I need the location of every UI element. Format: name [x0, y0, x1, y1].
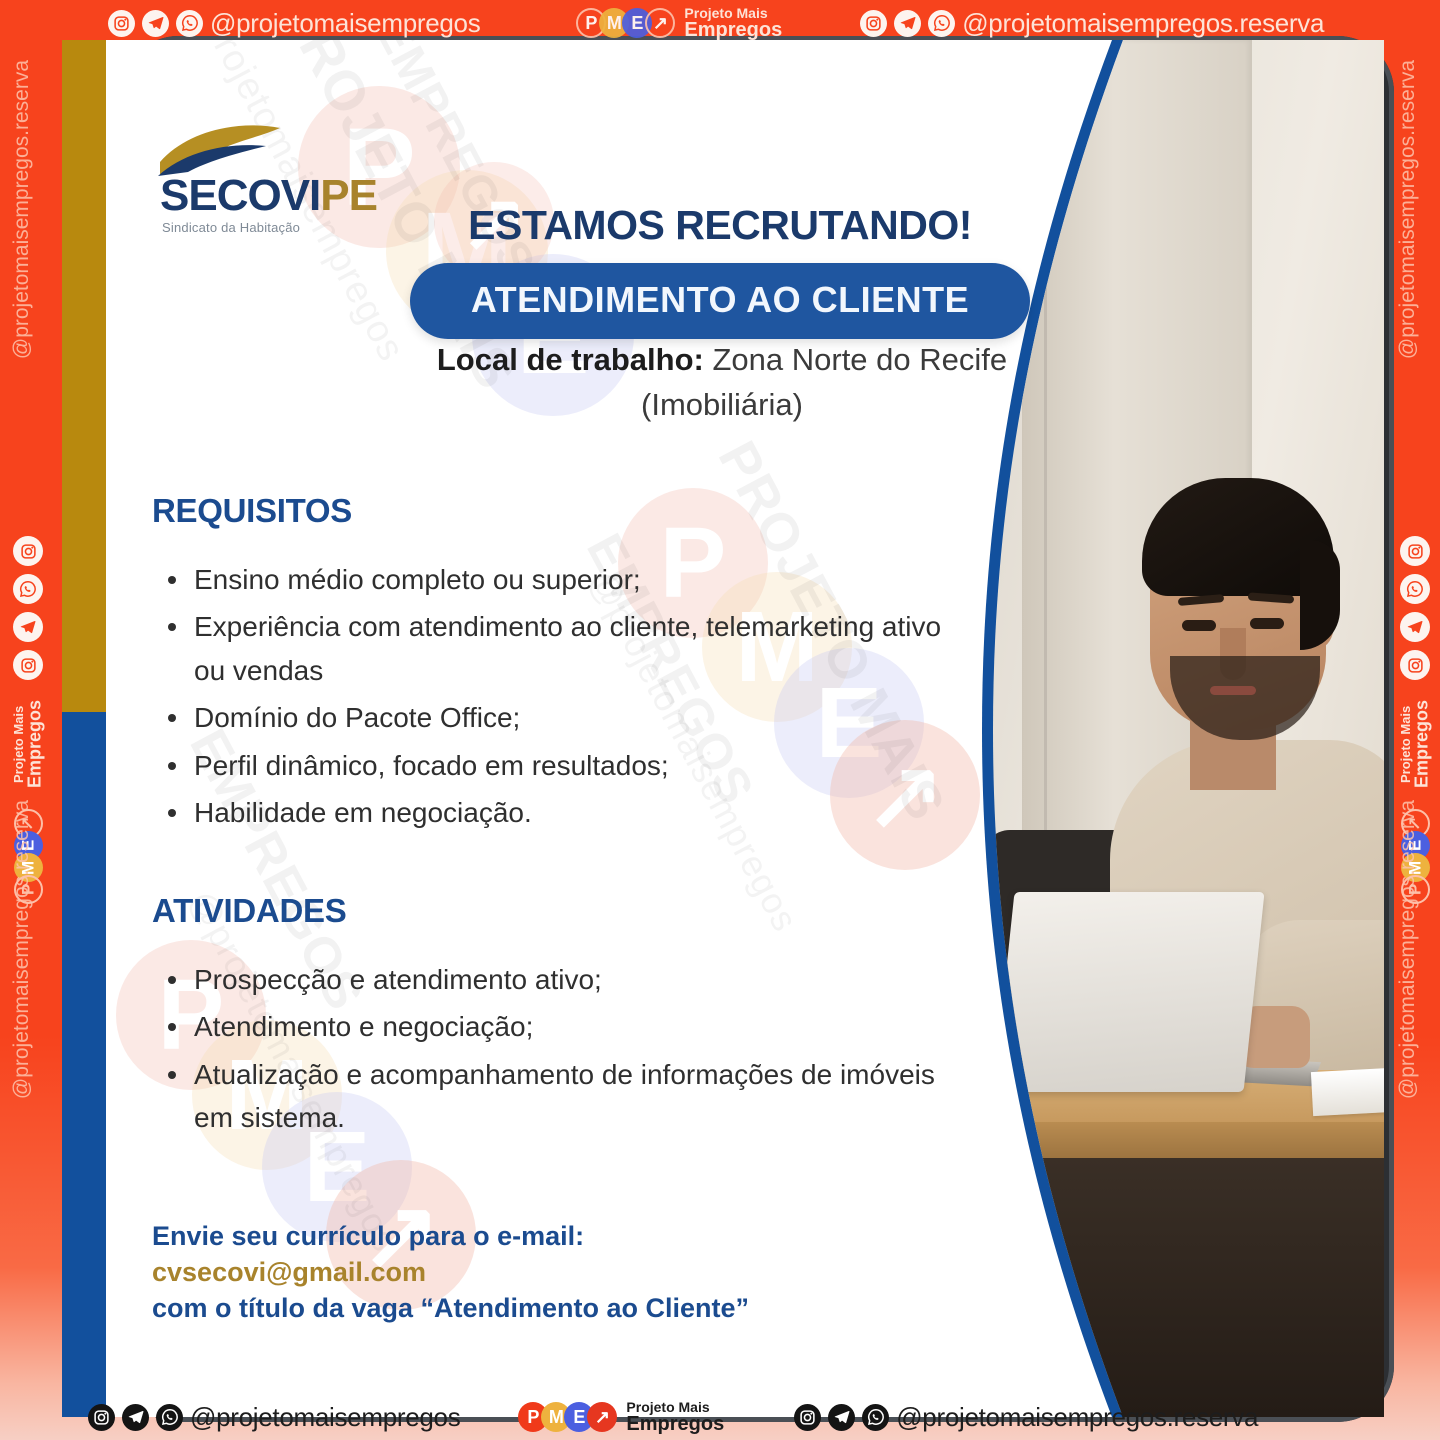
headline-block: ESTAMOS RECRUTANDO! ATENDIMENTO AO CLIEN… [410, 202, 1030, 339]
list-item: Prospecção e atendimento ativo; [154, 958, 944, 1001]
right-rail-icons [1400, 536, 1430, 680]
pme-wordmark: Projeto Mais Empregos [626, 1400, 724, 1434]
left-rail-handle-top: @projetomaisempregos.reserva [10, 60, 34, 359]
right-rail-brand-words: Projeto Mais Empregos [1399, 700, 1432, 788]
top-right-handle-text[interactable]: @projetomaisempregos.reserva [962, 8, 1324, 39]
right-social-rail: @projetomaisempregos.reserva Projeto Mai… [1390, 0, 1440, 1440]
job-title-pill: ATENDIMENTO AO CLIENTE [410, 263, 1030, 339]
list-item: Atualização e acompanhamento de informaç… [154, 1053, 944, 1140]
telegram-icon[interactable] [894, 10, 921, 37]
whatsapp-icon[interactable] [1400, 574, 1430, 604]
top-left-handle-group: @projetomaisempregos [108, 8, 480, 39]
whatsapp-icon[interactable] [862, 1404, 889, 1431]
top-center-pme-lockup: P M E ↗ Projeto Mais Empregos [576, 6, 782, 40]
instagram-icon[interactable] [860, 10, 887, 37]
contact-subject-note: com o título da vaga “Atendimento ao Cli… [152, 1290, 932, 1326]
left-rail-brand-words: Projeto Mais Empregos [12, 700, 45, 788]
secovipe-tagline: Sindicato da Habitação [162, 220, 404, 235]
instagram-icon[interactable] [13, 536, 43, 566]
telegram-icon[interactable] [142, 10, 169, 37]
work-location-line2: (Imobiliária) [362, 383, 1082, 428]
top-left-handle-text[interactable]: @projetomaisempregos [210, 8, 480, 39]
activities-heading: ATIVIDADES [152, 892, 346, 930]
requirements-list: Ensino médio completo ou superior; Exper… [154, 558, 944, 838]
instagram-icon[interactable] [794, 1404, 821, 1431]
photo-panel [982, 40, 1384, 1417]
bottom-center-pme-lockup: P M E ↗ Projeto Mais Empregos [518, 1400, 724, 1434]
pme-circles: P M E ↗ [518, 1402, 617, 1432]
poster-card: P M E ↗ P M E P M E ↗ P M E ↗ P M E ↗ PR… [62, 40, 1384, 1417]
pme-wordmark: Projeto Mais Empregos [684, 6, 782, 40]
list-item: Domínio do Pacote Office; [154, 696, 944, 739]
activities-list: Prospecção e atendimento ativo; Atendime… [154, 958, 944, 1144]
work-location-label: Local de trabalho: [437, 342, 704, 377]
instagram-icon-2[interactable] [13, 650, 43, 680]
instagram-icon[interactable] [108, 10, 135, 37]
secovipe-wordmark: SECOVIPE [160, 174, 404, 218]
requirements-heading: REQUISITOS [152, 492, 352, 530]
left-social-rail: @projetomaisempregos.reserva Projeto Mai… [0, 0, 56, 1440]
instagram-icon[interactable] [1400, 536, 1430, 566]
list-item: Experiência com atendimento ao cliente, … [154, 605, 944, 692]
right-rail-handle-bottom: @projetomaisempregos.reserva [1396, 800, 1420, 1099]
whatsapp-icon[interactable] [156, 1404, 183, 1431]
right-rail-handle-top: @projetomaisempregos.reserva [1396, 60, 1420, 359]
instagram-icon-2[interactable] [1400, 650, 1430, 680]
bottom-right-handle-text[interactable]: @projetomaisempregos.reserva [896, 1402, 1258, 1433]
list-item: Ensino médio completo ou superior; [154, 558, 944, 601]
bottom-left-handle-group: @projetomaisempregos [88, 1402, 460, 1433]
instagram-icon[interactable] [88, 1404, 115, 1431]
bottom-brand-bar: @projetomaisempregos P M E ↗ Projeto Mai… [0, 1394, 1440, 1440]
pme-circles: P M E ↗ [576, 8, 675, 38]
card-blue-edge-bar [62, 712, 106, 1417]
work-location-block: Local de trabalho: Zona Norte do Recife … [362, 338, 1082, 428]
bottom-right-handle-group: @projetomaisempregos.reserva [794, 1402, 1258, 1433]
bottom-left-handle-text[interactable]: @projetomaisempregos [190, 1402, 460, 1433]
work-location-line1: Local de trabalho: Zona Norte do Recife [362, 338, 1082, 383]
telegram-icon[interactable] [13, 612, 43, 642]
pme-arrow-circle: ↗ [587, 1402, 617, 1432]
secovipe-logo: SECOVIPE Sindicato da Habitação [154, 118, 404, 235]
whatsapp-icon[interactable] [176, 10, 203, 37]
telegram-icon[interactable] [1400, 612, 1430, 642]
pme-arrow-circle: ↗ [645, 8, 675, 38]
contact-email[interactable]: cvsecovi@gmail.com [152, 1254, 932, 1290]
whatsapp-icon[interactable] [13, 574, 43, 604]
telegram-icon[interactable] [828, 1404, 855, 1431]
telegram-icon[interactable] [122, 1404, 149, 1431]
headline-text: ESTAMOS RECRUTANDO! [410, 202, 1030, 249]
list-item: Atendimento e negociação; [154, 1005, 944, 1048]
left-rail-handle-bottom: @projetomaisempregos.reserva [10, 800, 34, 1099]
job-title-text: ATENDIMENTO AO CLIENTE [471, 279, 969, 320]
work-location-value: Zona Norte do Recife [704, 342, 1007, 377]
whatsapp-icon[interactable] [928, 10, 955, 37]
contact-instruction: Envie seu currículo para o e-mail: [152, 1218, 932, 1254]
left-rail-icons [13, 536, 43, 680]
list-item: Habilidade em negociação. [154, 791, 944, 834]
list-item: Perfil dinâmico, focado em resultados; [154, 744, 944, 787]
card-gold-edge-bar [62, 40, 106, 712]
top-right-handle-group: @projetomaisempregos.reserva [860, 8, 1324, 39]
photo-man-using-laptop [982, 40, 1384, 1417]
contact-block: Envie seu currículo para o e-mail: cvsec… [152, 1218, 932, 1327]
